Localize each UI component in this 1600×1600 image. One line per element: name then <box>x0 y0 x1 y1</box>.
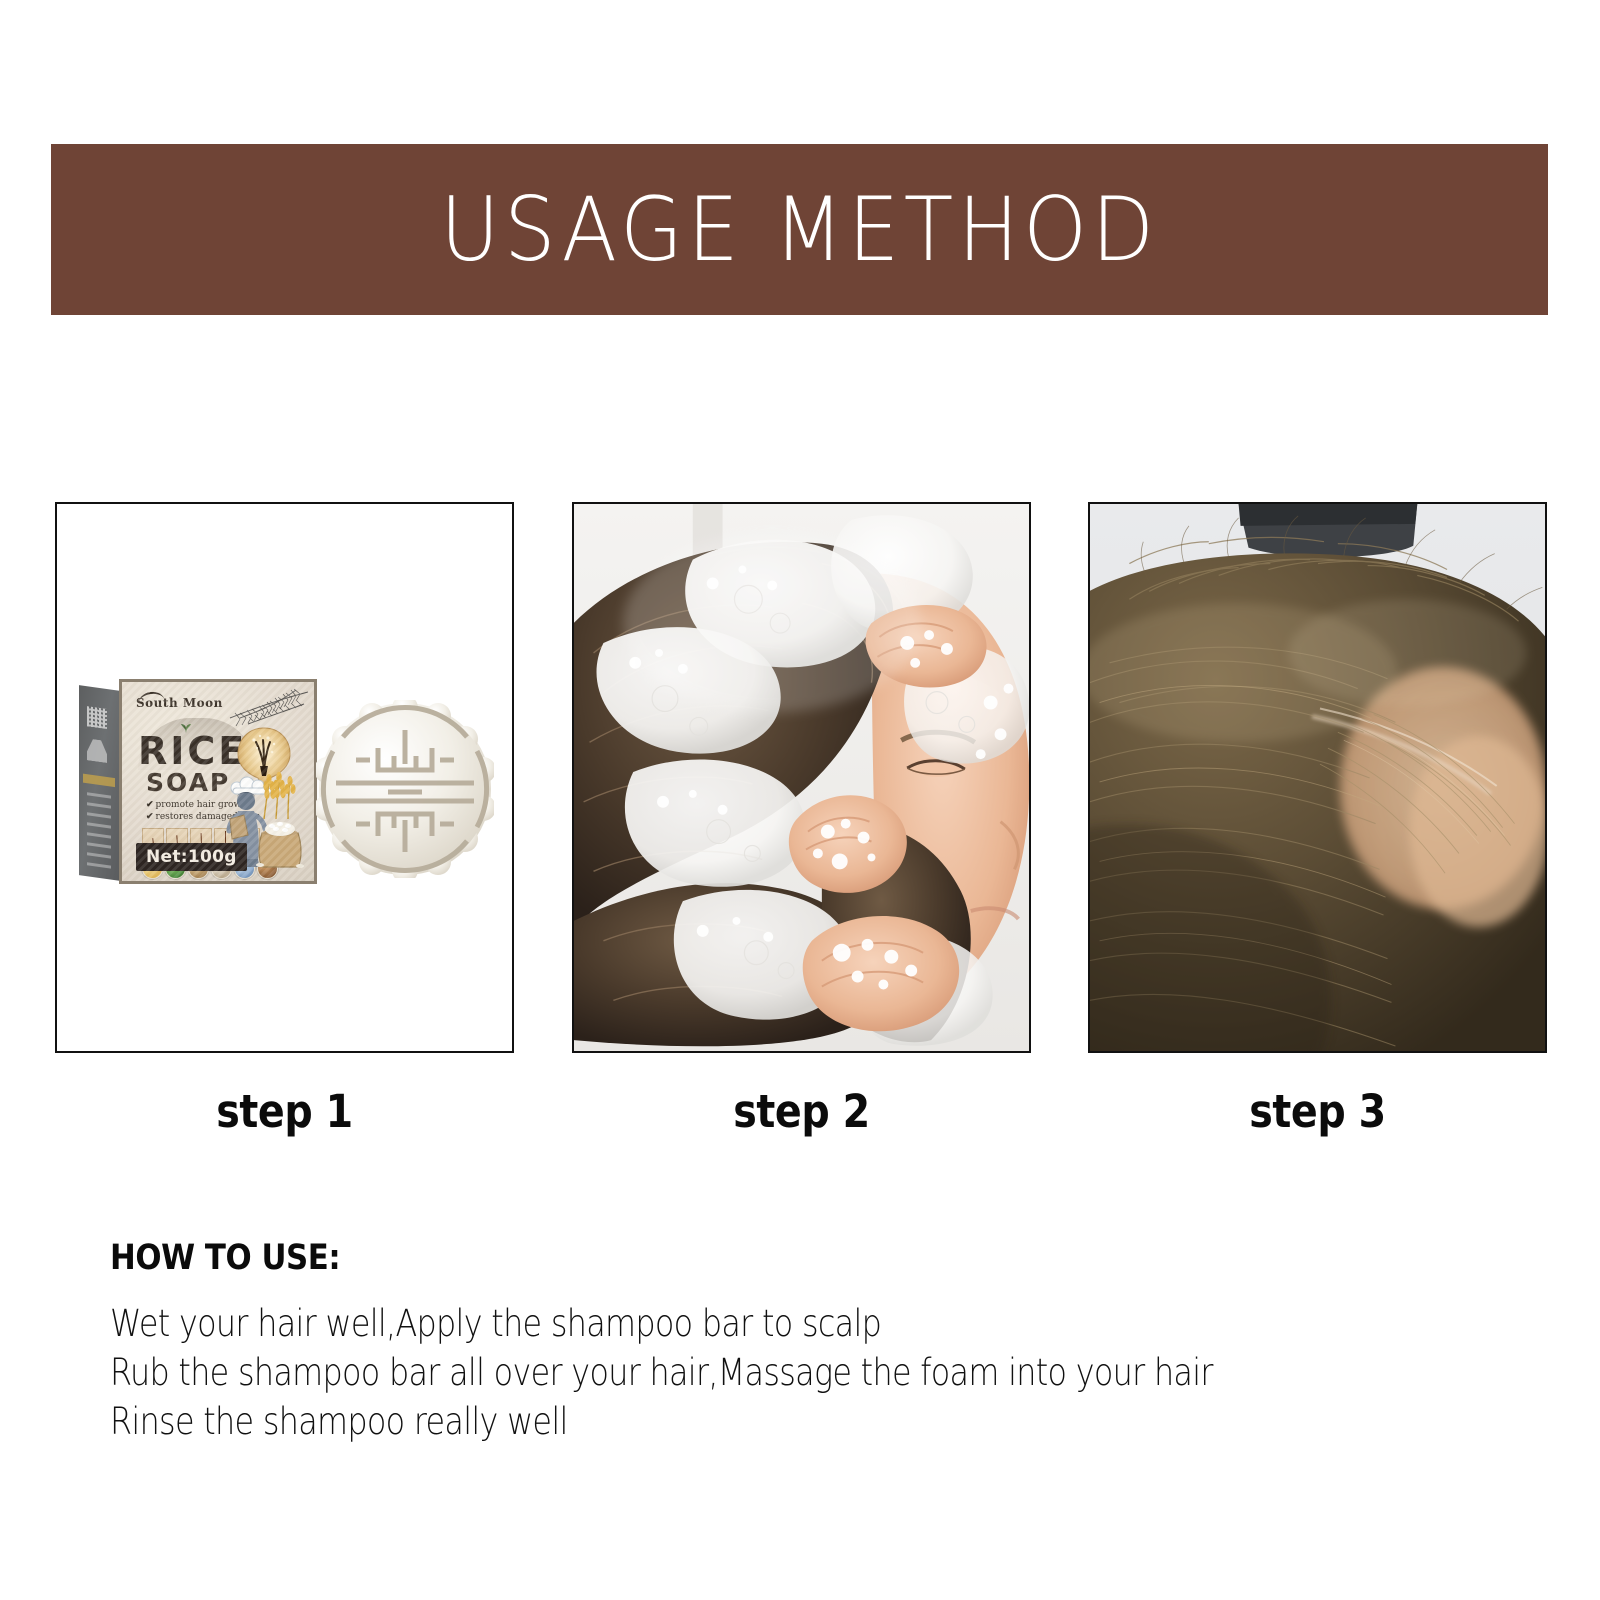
step-2-label: step 2 <box>599 1085 1003 1138</box>
step-labels-row: step 1 step 2 step 3 <box>55 1085 1547 1138</box>
step-1-label: step 1 <box>83 1085 487 1138</box>
product-name-secondary: SOAP <box>146 770 230 795</box>
step-3-image-frame <box>1088 502 1547 1053</box>
step-images-row: South Moon RICE SOAP <box>55 502 1547 1053</box>
check-icon: ✔ <box>146 812 154 822</box>
rice-soap-product-photo: South Moon RICE SOAP <box>57 504 512 1051</box>
brand-name: South Moon <box>136 696 223 710</box>
how-to-use-section: HOW TO USE: Wet your hair well,Apply the… <box>110 1238 1510 1446</box>
side-gold-band <box>83 774 115 787</box>
box-side-panel <box>79 685 121 881</box>
rice-soap-box: South Moon RICE SOAP <box>79 679 317 884</box>
how-to-use-line-2: Rub the shampoo bar all over your hair,M… <box>110 1349 1314 1398</box>
round-soap-bar <box>316 700 494 878</box>
check-icon: ✔ <box>146 800 154 810</box>
hair-washing-photo <box>574 504 1029 1051</box>
product-name-primary: RICE <box>138 732 247 770</box>
net-weight-label: Net:100g <box>136 843 247 871</box>
qr-code-icon <box>87 706 107 729</box>
page-title: USAGE METHOD <box>440 186 1158 274</box>
how-to-use-line-3: Rinse the shampoo really well <box>110 1398 1314 1447</box>
brand-mark-icon <box>87 738 107 763</box>
scalp-closeup-photo <box>1090 504 1545 1051</box>
how-to-use-heading: HOW TO USE: <box>110 1238 1342 1278</box>
step-2-image-frame <box>572 502 1031 1053</box>
step-3-label: step 3 <box>1116 1085 1520 1138</box>
box-front-panel: South Moon RICE SOAP <box>119 679 317 884</box>
usage-method-banner: USAGE METHOD <box>51 144 1548 315</box>
step-1-image-frame: South Moon RICE SOAP <box>55 502 514 1053</box>
how-to-use-line-1: Wet your hair well,Apply the shampoo bar… <box>110 1300 1314 1349</box>
rice-sack-illustration <box>254 811 306 869</box>
